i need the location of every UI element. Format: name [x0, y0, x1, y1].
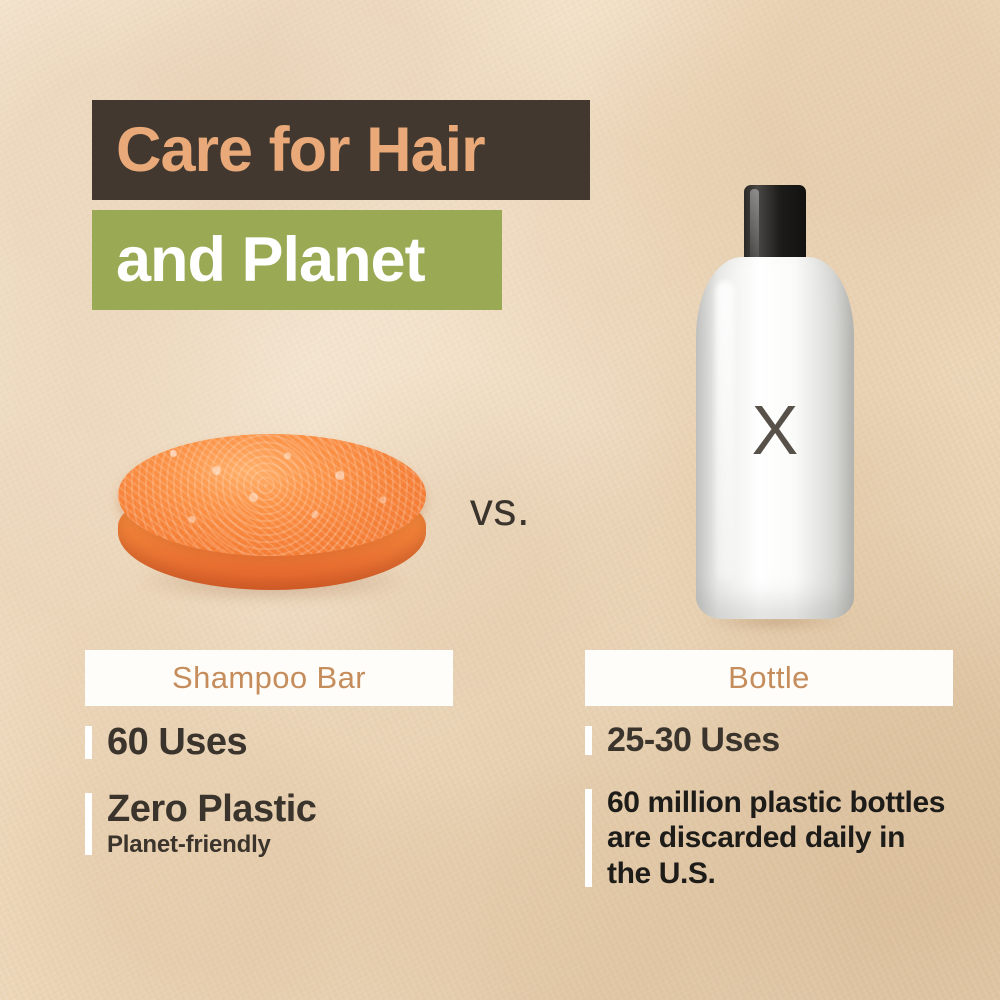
bottle-x-mark: X: [690, 395, 860, 465]
product-name-box-left: Shampoo Bar: [85, 650, 453, 706]
column-shampoo-bar: Shampoo Bar 60 Uses Zero Plastic Planet-…: [85, 650, 453, 859]
product-name-right: Bottle: [728, 660, 810, 696]
headline-line-2: and Planet: [116, 229, 425, 292]
headline-band-primary: Care for Hair: [92, 100, 590, 200]
column-bottle: Bottle 25-30 Uses 60 million plastic bot…: [585, 650, 953, 891]
product-name-left: Shampoo Bar: [172, 660, 366, 696]
fact-right-uses: 25-30 Uses: [585, 722, 953, 759]
fact-left-plastic-value: Zero Plastic: [107, 789, 453, 830]
versus-separator: vs.: [0, 482, 1000, 536]
product-comparison-visuals: X: [0, 330, 1000, 630]
headline-line-1: Care for Hair: [116, 119, 485, 182]
fact-left-plastic: Zero Plastic Planet-friendly: [85, 789, 453, 859]
fact-right-waste-text: 60 million plastic bottles are discarded…: [607, 785, 953, 891]
fact-right-waste: 60 million plastic bottles are discarded…: [585, 785, 953, 891]
versus-label: vs.: [470, 482, 530, 536]
product-name-box-right: Bottle: [585, 650, 953, 706]
headline-band-secondary: and Planet: [92, 210, 502, 310]
fact-left-plastic-sub: Planet-friendly: [107, 832, 453, 859]
plastic-bottle-icon: X: [690, 185, 860, 635]
fact-right-uses-value: 25-30 Uses: [607, 722, 953, 759]
fact-left-uses: 60 Uses: [85, 722, 453, 763]
fact-left-uses-value: 60 Uses: [107, 722, 453, 763]
